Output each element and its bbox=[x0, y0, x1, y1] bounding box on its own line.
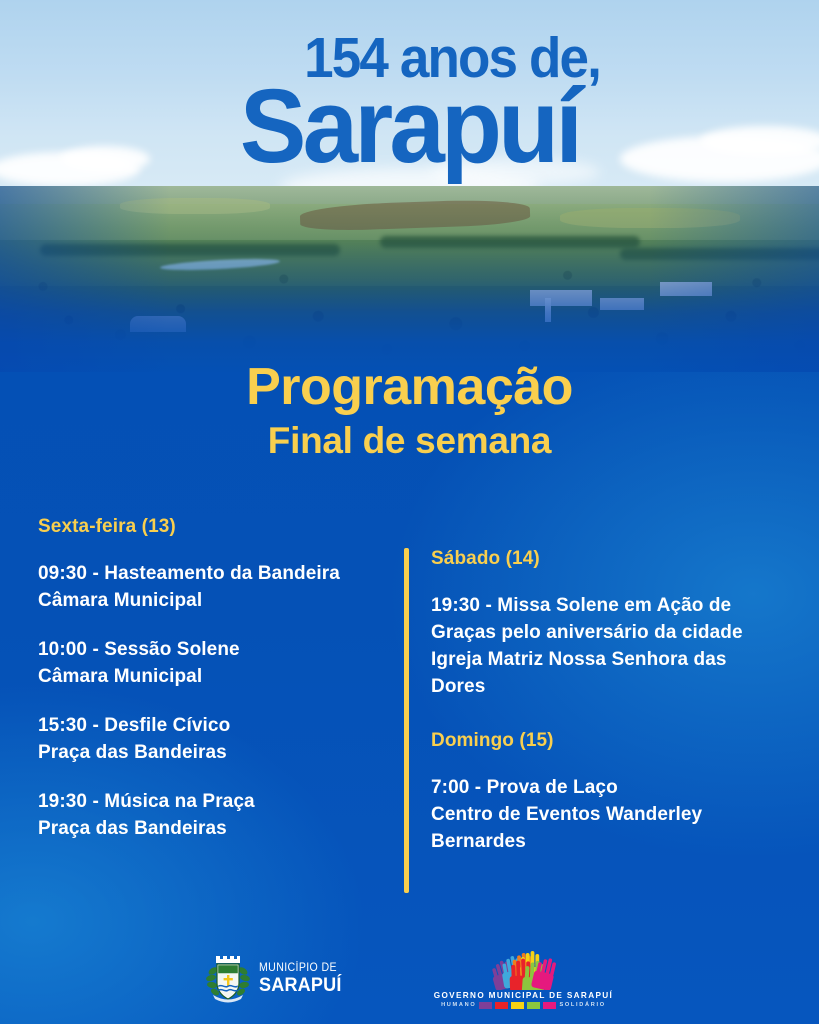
schedule-section: Sexta-feira (13) 09:30 - Hasteamento da … bbox=[0, 516, 819, 906]
event-location: Praça das Bandeiras bbox=[38, 815, 388, 842]
anniversary-title: 154 anos de, Sarapuí bbox=[0, 30, 819, 205]
government-logo-tagline: HUMANO SOLIDÁRIO bbox=[441, 1002, 606, 1009]
photo-right-vignette bbox=[649, 186, 819, 372]
day-label: Sexta-feira (13) bbox=[38, 516, 388, 538]
photo-left-vignette bbox=[0, 186, 170, 372]
event-title: 19:30 - Música na Praça bbox=[38, 788, 388, 815]
event-title: 19:30 - Missa Solene em Ação de Graças p… bbox=[431, 592, 786, 646]
swatch-magenta bbox=[543, 1002, 556, 1009]
day-group: Domingo (15) 7:00 - Prova de Laço Centro… bbox=[431, 730, 786, 855]
event-item: 09:30 - Hasteamento da Bandeira Câmara M… bbox=[38, 560, 388, 614]
tagline-solidario: SOLIDÁRIO bbox=[559, 1002, 605, 1008]
day-group: Sábado (14) 19:30 - Missa Solene em Ação… bbox=[431, 548, 786, 700]
swatch-yellow bbox=[511, 1002, 524, 1009]
poster-canvas: 154 anos de, Sarapuí Programação Final d… bbox=[0, 0, 819, 1024]
municipality-logo-line1: MUNICÍPIO DE bbox=[259, 963, 339, 975]
event-title: 09:30 - Hasteamento da Bandeira bbox=[38, 560, 388, 587]
day-group: Sexta-feira (13) 09:30 - Hasteamento da … bbox=[38, 516, 388, 842]
municipality-logo-text: MUNICÍPIO DE SARAPUÍ bbox=[259, 963, 346, 996]
day-label: Domingo (15) bbox=[431, 730, 786, 752]
event-location: Centro de Eventos Wanderley Bernardes bbox=[431, 801, 786, 855]
tagline-humano: HUMANO bbox=[441, 1002, 476, 1008]
event-location: Igreja Matriz Nossa Senhora das Dores bbox=[431, 646, 786, 700]
event-item: 19:30 - Missa Solene em Ação de Graças p… bbox=[431, 592, 786, 700]
schedule-column-right: Sábado (14) 19:30 - Missa Solene em Ação… bbox=[431, 548, 786, 855]
schedule-column-left: Sexta-feira (13) 09:30 - Hasteamento da … bbox=[38, 516, 388, 842]
footer-logos: MUNICÍPIO DE SARAPUÍ bbox=[0, 948, 819, 1010]
swatch-green bbox=[527, 1002, 540, 1009]
event-item: 10:00 - Sessão Solene Câmara Municipal bbox=[38, 636, 388, 690]
event-title: 15:30 - Desfile Cívico bbox=[38, 712, 388, 739]
event-location: Praça das Bandeiras bbox=[38, 739, 388, 766]
program-subtitle: Final de semana bbox=[0, 418, 819, 464]
government-logo-title: GOVERNO MUNICIPAL DE SARAPUÍ bbox=[434, 991, 613, 1000]
event-location: Câmara Municipal bbox=[38, 587, 388, 614]
government-logo: GOVERNO MUNICIPAL DE SARAPUÍ HUMANO SOLI… bbox=[434, 950, 613, 1009]
event-item: 7:00 - Prova de Laço Centro de Eventos W… bbox=[431, 774, 786, 855]
event-item: 15:30 - Desfile Cívico Praça das Bandeir… bbox=[38, 712, 388, 766]
raised-hands-icon bbox=[464, 950, 582, 990]
column-divider bbox=[404, 548, 409, 893]
event-title: 10:00 - Sessão Solene bbox=[38, 636, 388, 663]
program-title: Programação bbox=[0, 358, 819, 416]
swatch-purple bbox=[479, 1002, 492, 1009]
event-location: Câmara Municipal bbox=[38, 663, 388, 690]
municipality-logo-line2: SARAPUÍ bbox=[259, 976, 342, 995]
event-title: 7:00 - Prova de Laço bbox=[431, 774, 786, 801]
swatch-red bbox=[495, 1002, 508, 1009]
event-item: 19:30 - Música na Praça Praça das Bandei… bbox=[38, 788, 388, 842]
program-heading: Programação Final de semana bbox=[0, 358, 819, 464]
day-label: Sábado (14) bbox=[431, 548, 786, 570]
coat-of-arms-icon bbox=[206, 955, 250, 1003]
city-name-text: Sarapuí bbox=[240, 81, 579, 173]
municipality-logo: MUNICÍPIO DE SARAPUÍ bbox=[206, 955, 346, 1003]
